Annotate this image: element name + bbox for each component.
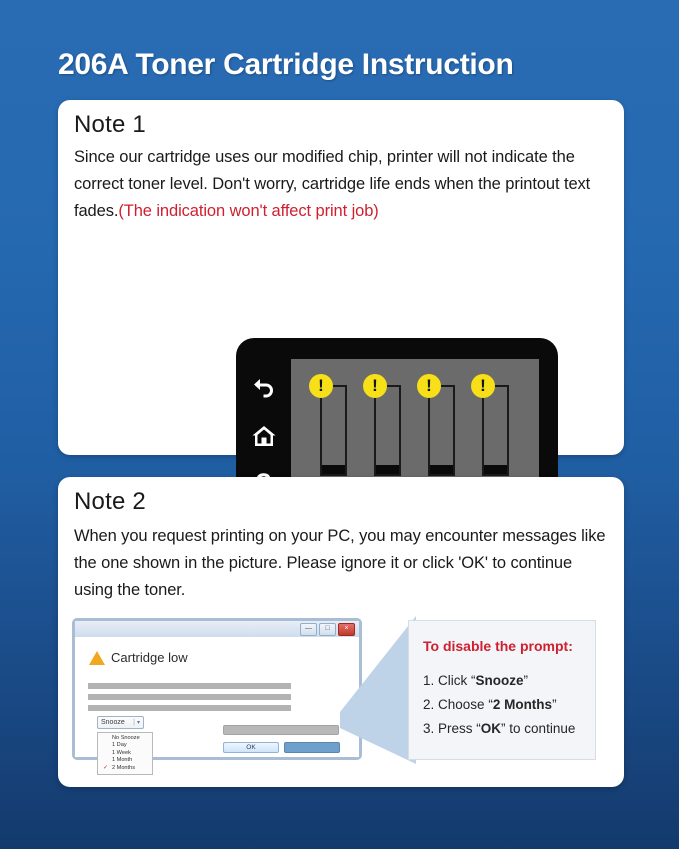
callout-steps: 1. Click “Snooze” 2. Choose “2 Months” 3… [423, 669, 575, 741]
toner-fill-yellow [430, 465, 453, 474]
callout-step-3: 3. Press “OK” to continue [423, 717, 575, 741]
minimize-button[interactable]: — [300, 623, 317, 636]
step-text: Press “ [438, 721, 481, 736]
list-item[interactable]: 1 Day [98, 742, 152, 749]
step-text-end: ” [552, 697, 557, 712]
warning-icon-black: ! [471, 374, 495, 398]
snooze-divider: | [133, 717, 135, 729]
step-text: Choose “ [438, 697, 493, 712]
snooze-option-label: No Snooze [112, 735, 140, 741]
home-icon[interactable] [236, 424, 291, 453]
instruction-card-page: 206A Toner Cartridge Instruction Note 1 … [0, 0, 679, 849]
list-item-selected[interactable]: ✓ 2 Months [98, 765, 152, 772]
placeholder-text-line [88, 705, 291, 711]
callout-box: To disable the prompt: 1. Click “Snooze”… [408, 620, 596, 760]
list-item[interactable]: 1 Month [98, 757, 152, 764]
note2-body: When you request printing on your PC, yo… [74, 523, 614, 604]
maximize-button[interactable]: □ [319, 623, 336, 636]
step-text-end: ” [524, 673, 529, 688]
toner-bar-cyan [320, 385, 347, 476]
dialog-titlebar: — □ × [75, 621, 359, 637]
snooze-dropdown-label: Snooze [101, 717, 131, 729]
snooze-option-label: 1 Week [112, 750, 131, 756]
warning-icon-yellow: ! [417, 374, 441, 398]
warning-icon-cyan: ! [309, 374, 333, 398]
chevron-down-icon: ▾ [137, 717, 140, 729]
step-emphasis: Snooze [476, 673, 524, 688]
note2-heading: Note 2 [74, 488, 146, 516]
toner-bar-black [482, 385, 509, 476]
list-item[interactable]: No Snooze [98, 735, 152, 742]
snooze-option-label: 1 Month [112, 757, 132, 763]
dialog-heading: Cartridge low [111, 650, 188, 665]
callout-step-1: 1. Click “Snooze” [423, 669, 575, 693]
note1-heading: Note 1 [74, 111, 146, 139]
warning-triangle-icon [89, 651, 105, 665]
callout-pointer [340, 616, 416, 764]
dialog-input-field[interactable] [223, 725, 339, 735]
ok-button[interactable]: OK [223, 742, 279, 753]
callout-title: To disable the prompt: [423, 638, 573, 654]
note1-card: Note 1 Since our cartridge uses our modi… [58, 100, 624, 455]
step-emphasis: 2 Months [493, 697, 552, 712]
step-emphasis: OK [481, 721, 501, 736]
snooze-dropdown[interactable]: Snooze | ▾ [97, 716, 144, 729]
step-number: 3. [423, 721, 434, 736]
snooze-options-list[interactable]: No Snooze 1 Day 1 Week 1 Month ✓ 2 Month… [97, 732, 153, 775]
toner-bar-yellow [428, 385, 455, 476]
step-number: 1. [423, 673, 434, 688]
toner-bar-magenta [374, 385, 401, 476]
note1-body: Since our cartridge uses our modified ch… [74, 144, 614, 225]
snooze-option-label: 1 Day [112, 742, 127, 748]
dialog-window: — □ × Cartridge low Snooze | ▾ [72, 618, 362, 760]
cartridge-low-dialog-illustration: — □ × Cartridge low Snooze | ▾ [72, 618, 362, 760]
note1-red-text: (The indication won't affect print job) [118, 202, 378, 220]
callout-step-2: 2. Choose “2 Months” [423, 693, 575, 717]
step-text-end: ” to continue [501, 721, 575, 736]
toner-fill-magenta [376, 465, 399, 474]
step-text: Click “ [438, 673, 476, 688]
page-title: 206A Toner Cartridge Instruction [58, 48, 513, 82]
check-icon: ✓ [103, 765, 108, 772]
list-item[interactable]: 1 Week [98, 750, 152, 757]
placeholder-text-line [88, 694, 291, 700]
back-icon[interactable] [236, 376, 291, 403]
toner-fill-cyan [322, 465, 345, 474]
secondary-button[interactable] [284, 742, 340, 753]
placeholder-text-line [88, 683, 291, 689]
dialog-body: Cartridge low Snooze | ▾ No Snooze 1 Day [75, 637, 359, 757]
toner-fill-black [484, 465, 507, 474]
snooze-option-label: 2 Months [112, 765, 135, 771]
warning-icon-magenta: ! [363, 374, 387, 398]
step-number: 2. [423, 697, 434, 712]
